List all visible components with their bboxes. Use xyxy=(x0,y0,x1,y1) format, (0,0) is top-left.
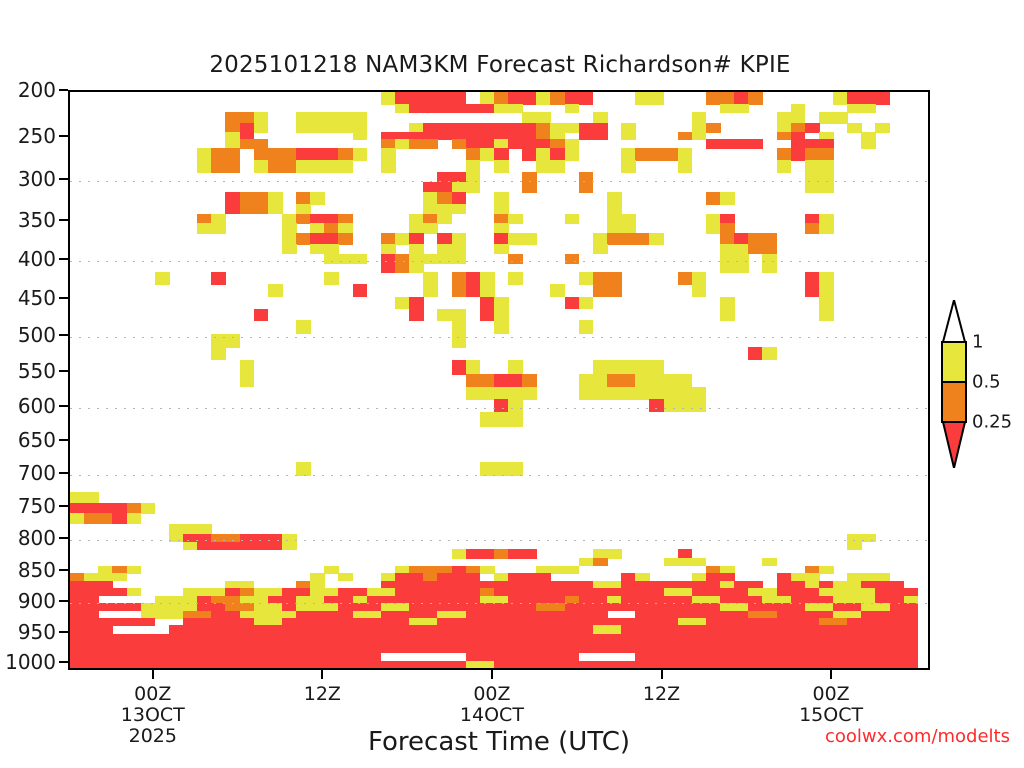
heatmap-cell xyxy=(904,661,919,668)
heatmap-cell xyxy=(720,661,735,668)
heatmap-cell xyxy=(423,139,438,148)
y-tick-mark xyxy=(59,370,68,372)
heatmap-cell xyxy=(664,558,679,566)
heatmap-cell xyxy=(791,661,806,668)
heatmap-cell xyxy=(607,192,622,204)
heatmap-cell xyxy=(706,92,721,105)
heatmap-cell xyxy=(452,92,467,105)
heatmap-cell xyxy=(310,112,325,124)
heatmap-cell xyxy=(565,148,580,161)
heatmap-cell xyxy=(409,104,424,113)
y-tick-label: 350 xyxy=(18,208,56,232)
heatmap-cell xyxy=(522,112,537,124)
heatmap-cell xyxy=(706,123,721,133)
heatmap-cell xyxy=(621,374,636,387)
heatmap-cell xyxy=(381,92,396,105)
heatmap-cell xyxy=(353,132,368,140)
heatmap-cell xyxy=(169,524,184,535)
heatmap-cell xyxy=(494,387,509,400)
heatmap-cell xyxy=(268,661,283,668)
heatmap-cell xyxy=(494,412,509,428)
heatmap-cell xyxy=(593,284,608,297)
heatmap-cell xyxy=(254,123,269,133)
heatmap-cell xyxy=(847,104,862,113)
y-tick-label: 650 xyxy=(18,428,56,452)
heatmap-cell xyxy=(466,172,481,183)
heatmap-cell xyxy=(734,104,749,113)
heatmap-cell xyxy=(762,558,777,566)
heatmap-cell xyxy=(324,148,339,161)
heatmap-cell xyxy=(466,104,481,113)
heatmap-cell xyxy=(338,160,353,173)
heatmap-cell xyxy=(480,104,495,113)
heatmap-cell xyxy=(762,233,777,245)
heatmap-cell xyxy=(579,320,594,334)
heatmap-cell xyxy=(282,148,297,161)
heatmap-cell xyxy=(635,92,650,105)
heatmap-cell xyxy=(508,462,523,476)
heatmap-cell xyxy=(805,223,820,233)
heatmap-cell xyxy=(508,92,523,105)
heatmap-cell xyxy=(480,462,495,476)
heatmap-cell xyxy=(861,661,876,668)
heatmap-cell xyxy=(522,233,537,245)
heatmap-cell xyxy=(861,92,876,105)
heatmap-cell xyxy=(98,588,113,596)
heatmap-cell xyxy=(664,148,679,161)
heatmap-cell xyxy=(847,661,862,668)
heatmap-cell xyxy=(127,618,142,626)
heatmap-cell xyxy=(70,661,85,668)
heatmap-cell xyxy=(480,92,495,105)
heatmap-cell xyxy=(112,661,127,668)
heatmap-cell xyxy=(381,148,396,161)
heatmap-cell xyxy=(649,387,664,400)
heatmap-cell xyxy=(310,192,325,204)
chart-page: 2025101218 NAM3KM Forecast Richardson# K… xyxy=(0,0,1024,768)
heatmap-cell xyxy=(141,661,156,668)
heatmap-cell xyxy=(169,534,184,542)
y-tick-label: 700 xyxy=(18,461,56,485)
y-tick-label: 900 xyxy=(18,589,56,613)
heatmap-cell xyxy=(437,172,452,183)
y-tick-mark xyxy=(59,661,68,663)
heatmap-cell xyxy=(423,223,438,233)
heatmap-cell xyxy=(494,92,509,105)
heatmap-cell xyxy=(791,148,806,161)
heatmap-cell xyxy=(748,139,763,148)
heatmap-cell xyxy=(112,573,127,581)
heatmap-cell xyxy=(112,513,127,524)
heatmap-cell xyxy=(635,148,650,161)
heatmap-cell xyxy=(211,542,226,550)
heatmap-cell xyxy=(452,549,467,558)
heatmap-cell xyxy=(847,123,862,133)
heatmap-cell xyxy=(480,549,495,558)
heatmap-cell xyxy=(353,112,368,124)
heatmap-cell xyxy=(395,661,410,668)
heatmap-cell xyxy=(197,223,212,233)
heatmap-cell xyxy=(211,661,226,668)
heatmap-cell xyxy=(225,192,240,204)
x-tick-label: 00Z15OCT xyxy=(799,684,863,726)
y-tick-label: 950 xyxy=(18,620,56,644)
heatmap-cell xyxy=(621,148,636,161)
heatmap-cell xyxy=(536,661,551,668)
heatmap-cell xyxy=(819,272,834,285)
heatmap-cell xyxy=(409,233,424,245)
heatmap-cell xyxy=(649,661,664,668)
heatmap-cell xyxy=(127,503,142,514)
heatmap-cell xyxy=(452,644,467,653)
heatmap-cell xyxy=(310,123,325,133)
heatmap-cell xyxy=(847,92,862,105)
heatmap-cell xyxy=(692,399,707,412)
heatmap-cell xyxy=(197,661,212,668)
x-tick-label-line: 00Z xyxy=(121,684,185,705)
heatmap-cell xyxy=(452,360,467,375)
y-tick-mark xyxy=(59,297,68,299)
heatmap-cell xyxy=(819,182,834,193)
heatmap-cell xyxy=(762,347,777,360)
x-tick-mark xyxy=(321,670,323,679)
heatmap-cell xyxy=(183,524,198,535)
heatmap-cell xyxy=(579,92,594,105)
heatmap-cell xyxy=(211,148,226,161)
heatmap-cell xyxy=(522,661,537,668)
heatmap-cell xyxy=(593,558,608,566)
heatmap-cell xyxy=(678,387,693,400)
heatmap-cell xyxy=(409,661,424,668)
heatmap-cell xyxy=(579,387,594,400)
heatmap-cell xyxy=(225,334,240,348)
heatmap-cell xyxy=(536,160,551,173)
heatmap-cell xyxy=(423,272,438,285)
heatmap-cell xyxy=(395,104,410,113)
heatmap-cell xyxy=(225,160,240,173)
heatmap-cell xyxy=(508,272,523,285)
heatmap-cell xyxy=(353,661,368,668)
heatmap-cell xyxy=(819,661,834,668)
heatmap-cell xyxy=(508,374,523,387)
heatmap-cell xyxy=(805,160,820,173)
heatmap-cell xyxy=(720,263,735,273)
heatmap-cell xyxy=(211,272,226,285)
heatmap-cell xyxy=(452,309,467,321)
heatmap-cell xyxy=(593,272,608,285)
heatmap-cell xyxy=(664,374,679,387)
heatmap-cell xyxy=(452,284,467,297)
heatmap-cell xyxy=(112,603,127,611)
x-axis-title: Forecast Time (UTC) xyxy=(68,727,930,757)
colorbar-label: 1 xyxy=(972,332,983,353)
heatmap-cell xyxy=(155,661,170,668)
heatmap-cell xyxy=(819,148,834,161)
heatmap-cell xyxy=(395,297,410,310)
heatmap-cell xyxy=(494,462,509,476)
colorbar-lower-arrow xyxy=(941,422,967,468)
heatmap-cell xyxy=(127,661,142,668)
heatmap-cell xyxy=(282,244,297,254)
heatmap-cell xyxy=(381,644,396,653)
heatmap-cell xyxy=(565,297,580,310)
colorbar-separator xyxy=(941,381,967,383)
heatmap-cell xyxy=(240,374,255,387)
x-tick-mark xyxy=(661,670,663,679)
heatmap-cell xyxy=(338,254,353,264)
heatmap-cell xyxy=(338,573,353,581)
heatmap-cell xyxy=(395,233,410,245)
heatmap-cell xyxy=(522,549,537,558)
heatmap-cell xyxy=(211,223,226,233)
heatmap-cell xyxy=(664,399,679,412)
heatmap-cell xyxy=(734,233,749,245)
heatmap-cell xyxy=(98,661,113,668)
heatmap-cell xyxy=(437,192,452,204)
heatmap-cell xyxy=(127,513,142,524)
heatmap-cell xyxy=(579,172,594,183)
heatmap-cell xyxy=(367,661,382,668)
heatmap-cell xyxy=(494,661,509,668)
heatmap-cell xyxy=(112,503,127,514)
heatmap-cell xyxy=(466,360,481,375)
y-tick-mark xyxy=(59,569,68,571)
heatmap-cell xyxy=(494,192,509,204)
heatmap-cell xyxy=(381,263,396,273)
heatmap-cell xyxy=(211,347,226,360)
heatmap-cell xyxy=(423,92,438,105)
heatmap-cell xyxy=(452,334,467,348)
x-tick-label-line: 00Z xyxy=(799,684,863,705)
heatmap-cell xyxy=(536,112,551,124)
heatmap-cell xyxy=(565,566,580,574)
heatmap-cell xyxy=(635,360,650,375)
heatmap-cell xyxy=(296,320,311,334)
heatmap-cell xyxy=(508,214,523,224)
heatmap-cell xyxy=(127,588,142,596)
heatmap-cell xyxy=(565,123,580,133)
heatmap-cell xyxy=(324,123,339,133)
y-tick-label: 750 xyxy=(18,494,56,518)
heatmap-cell xyxy=(452,272,467,285)
heatmap-cell xyxy=(480,566,495,574)
heatmap-cell xyxy=(762,661,777,668)
heatmap-cell xyxy=(819,172,834,183)
heatmap-cell xyxy=(720,139,735,148)
heatmap-cell xyxy=(494,104,509,113)
heatmap-cell xyxy=(692,284,707,297)
heatmap-cell xyxy=(480,272,495,285)
heatmap-cell xyxy=(310,233,325,245)
heatmap-cell xyxy=(324,272,339,285)
y-tick-label: 200 xyxy=(18,78,56,102)
heatmap-cell xyxy=(395,644,410,653)
heatmap-cell xyxy=(692,387,707,400)
heatmap-cell xyxy=(508,661,523,668)
heatmap-cell xyxy=(197,160,212,173)
heatmap-cell xyxy=(437,92,452,105)
y-tick-mark xyxy=(59,537,68,539)
heatmap-cell xyxy=(98,513,113,524)
heatmap-cell xyxy=(437,644,452,653)
heatmap-cell xyxy=(565,254,580,264)
heatmap-cell xyxy=(225,542,240,550)
heatmap-cell xyxy=(466,387,481,400)
heatmap-cell xyxy=(84,513,99,524)
heatmap-cell xyxy=(550,92,565,105)
heatmap-cell xyxy=(112,618,127,626)
heatmap-cell xyxy=(409,297,424,310)
heatmap-cell xyxy=(805,284,820,297)
y-tick-label: 300 xyxy=(18,167,56,191)
heatmap-cell xyxy=(381,160,396,173)
heatmap-cell xyxy=(565,92,580,105)
x-tick-label-line: 14OCT xyxy=(460,705,524,726)
heatmap-cell xyxy=(819,160,834,173)
heatmap-cell xyxy=(183,542,198,550)
heatmap-cell xyxy=(494,244,509,254)
heatmap-cell xyxy=(861,139,876,148)
heatmap-cell xyxy=(762,263,777,273)
y-tick-mark xyxy=(59,334,68,336)
heatmap-cell xyxy=(211,334,226,348)
heatmap-cell xyxy=(508,412,523,428)
heatmap-cell xyxy=(805,182,820,193)
heatmap-cell xyxy=(678,132,693,140)
heatmap-cell xyxy=(847,542,862,550)
heatmap-cell xyxy=(225,204,240,214)
heatmap-cell xyxy=(183,661,198,668)
heatmap-cell xyxy=(494,549,509,558)
heatmap-cell xyxy=(423,182,438,193)
heatmap-cell xyxy=(423,661,438,668)
heatmap-cell xyxy=(197,148,212,161)
heatmap-cell xyxy=(748,661,763,668)
heatmap-cell xyxy=(338,123,353,133)
heatmap-cell xyxy=(692,558,707,566)
heatmap-cell xyxy=(706,139,721,148)
x-tick-label-line: 13OCT xyxy=(121,705,185,726)
heatmap-cell xyxy=(805,123,820,133)
heatmap-cell xyxy=(522,92,537,105)
heatmap-cell xyxy=(678,148,693,161)
heatmap-cell xyxy=(522,387,537,400)
heatmap-cell xyxy=(508,254,523,264)
heatmap-cell xyxy=(635,661,650,668)
heatmap-cell xyxy=(254,160,269,173)
y-tick-mark xyxy=(59,258,68,260)
heatmap-cell xyxy=(819,297,834,310)
heatmap-cell xyxy=(324,112,339,124)
heatmap-cell xyxy=(324,661,339,668)
heatmap-cell xyxy=(155,611,170,619)
heatmap-cell xyxy=(353,254,368,264)
y-tick-mark xyxy=(59,631,68,633)
heatmap-cell xyxy=(437,254,452,264)
heatmap-cell xyxy=(565,104,580,113)
heatmap-cell xyxy=(296,112,311,124)
heatmap-cell xyxy=(692,112,707,124)
heatmap-cell xyxy=(409,644,424,653)
heatmap-cell xyxy=(437,661,452,668)
heatmap-cell xyxy=(748,233,763,245)
heatmap-cell xyxy=(240,360,255,375)
heatmap-cell xyxy=(579,644,594,653)
heatmap-cell xyxy=(324,160,339,173)
heatmap-cell xyxy=(169,661,184,668)
heatmap-cell xyxy=(240,139,255,148)
heatmap-cell xyxy=(197,542,212,550)
heatmap-cell xyxy=(621,603,636,611)
heatmap-cell xyxy=(819,309,834,321)
y-axis: 2002503003504004505005506006507007508008… xyxy=(0,0,68,768)
heatmap-cell xyxy=(678,661,693,668)
heatmap-cell xyxy=(268,204,283,214)
heatmap-cell xyxy=(748,92,763,105)
heatmap-cell xyxy=(565,214,580,224)
colorbar-upper-arrow xyxy=(941,300,967,342)
heatmap-cell xyxy=(452,192,467,204)
heatmap-cell xyxy=(268,160,283,173)
heatmap-cell xyxy=(875,92,890,105)
heatmap-cell xyxy=(579,182,594,193)
heatmap-cell xyxy=(607,360,622,375)
heatmap-cell xyxy=(240,661,255,668)
heatmap-cell xyxy=(593,387,608,400)
heatmap-cell xyxy=(734,263,749,273)
heatmap-cell xyxy=(268,192,283,204)
heatmap-cell xyxy=(664,387,679,400)
heatmap-cell xyxy=(452,182,467,193)
heatmap-cell xyxy=(494,148,509,161)
heatmap-cell xyxy=(466,661,481,668)
heatmap-cell xyxy=(437,132,452,140)
heatmap-cell xyxy=(833,92,848,105)
heatmap-cell xyxy=(70,492,85,503)
heatmap-cell xyxy=(254,309,269,321)
y-tick-mark xyxy=(59,89,68,91)
heatmap-cell xyxy=(593,233,608,245)
heatmap-cell xyxy=(550,661,565,668)
heatmap-cell xyxy=(875,123,890,133)
heatmap-cell xyxy=(861,104,876,113)
heatmap-cell xyxy=(875,661,890,668)
heatmap-cell xyxy=(254,661,269,668)
y-tick-mark xyxy=(59,439,68,441)
heatmap-cell xyxy=(353,284,368,297)
heatmap-cell xyxy=(296,462,311,476)
heatmap-cell xyxy=(437,182,452,193)
heatmap-cell xyxy=(282,160,297,173)
heatmap-cell xyxy=(296,214,311,224)
heatmap-cell xyxy=(452,233,467,245)
heatmap-cell xyxy=(791,112,806,124)
heatmap-cell xyxy=(338,148,353,161)
x-tick-label: 00Z14OCT xyxy=(460,684,524,726)
heatmap-cell xyxy=(296,192,311,204)
heatmap-cell xyxy=(748,347,763,360)
heatmap-cell xyxy=(452,172,467,183)
heatmap-cell xyxy=(579,132,594,140)
heatmap-cell xyxy=(480,297,495,310)
heatmap-cell xyxy=(423,254,438,264)
heatmap-cell xyxy=(649,360,664,375)
heatmap-cell xyxy=(240,112,255,124)
heatmap-cell xyxy=(225,148,240,161)
heatmap-cell xyxy=(777,661,792,668)
page-title: 2025101218 NAM3KM Forecast Richardson# K… xyxy=(0,52,1000,78)
heatmap-cell xyxy=(480,148,495,161)
